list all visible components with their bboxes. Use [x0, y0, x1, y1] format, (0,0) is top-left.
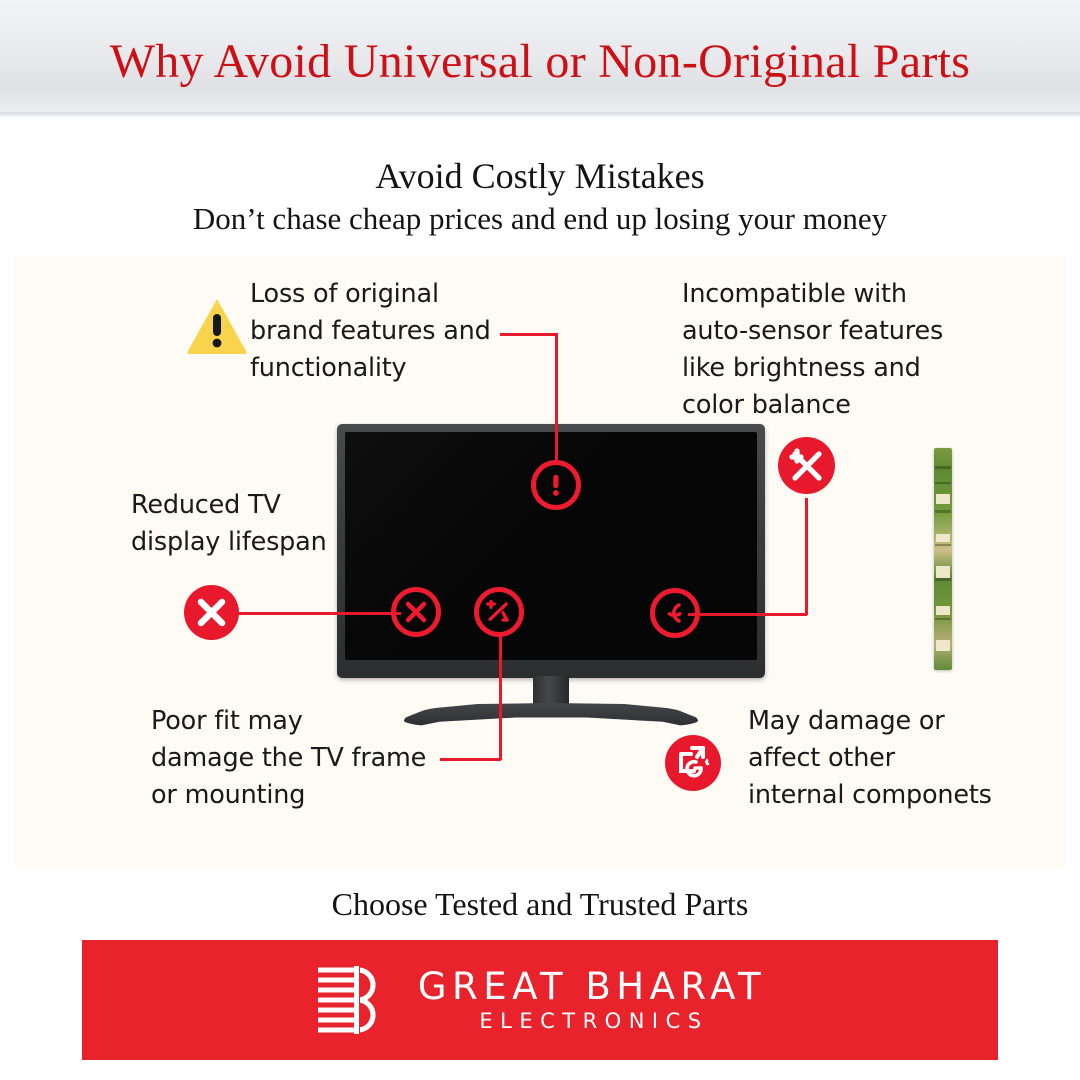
- footer-brand-bar: GREAT BHARAT ELECTRONICS: [82, 940, 998, 1060]
- callout-line: Incompatible with: [682, 276, 982, 313]
- callout-line: functionality: [250, 350, 520, 387]
- connector-lifespan-horizontal: [236, 612, 401, 615]
- brand-name: GREAT BHARAT: [418, 966, 766, 1008]
- callout-line: Reduced TV: [131, 487, 361, 524]
- header-banner: Why Avoid Universal or Non-Original Part…: [0, 0, 1080, 118]
- connector-poorfit-vertical: [499, 636, 502, 760]
- subtitle-primary: Avoid Costly Mistakes: [0, 155, 1080, 197]
- red-cross-circle-icon: [184, 585, 239, 640]
- callout-line: Poor fit may: [151, 703, 461, 740]
- callout-line: auto-sensor features: [682, 313, 982, 350]
- cross-ring-glyph: [396, 587, 436, 637]
- broken-sensor-glyph: [778, 437, 835, 494]
- broken-sensor-icon: [778, 437, 835, 494]
- led-driver-board: [934, 448, 952, 670]
- connector-loss-vertical: [555, 333, 558, 460]
- callout-line: affect other: [748, 740, 1018, 777]
- component-damage-icon: [665, 735, 721, 791]
- percent-decline-icon: [474, 587, 524, 637]
- cross-glyph: [184, 585, 239, 640]
- brand-logo-icon: [314, 962, 392, 1038]
- exclamation-circle-icon: [531, 460, 581, 510]
- callout-line: May damage or: [748, 703, 1018, 740]
- brand-wordmark: GREAT BHARAT ELECTRONICS: [418, 966, 766, 1034]
- callout-line: Loss of original: [250, 276, 520, 313]
- callout-line: brand features and: [250, 313, 520, 350]
- callout-line: like brightness and: [682, 350, 982, 387]
- contrast-glyph: [655, 588, 695, 638]
- bottom-tagline: Choose Tested and Trusted Parts: [0, 884, 1080, 924]
- callout-line: or mounting: [151, 777, 461, 814]
- cross-circle-icon: [391, 587, 441, 637]
- warning-triangle-icon: [186, 296, 248, 356]
- connector-sensor-vertical: [805, 498, 808, 615]
- page-title: Why Avoid Universal or Non-Original Part…: [0, 36, 1080, 88]
- callout-poor-fit: Poor fit may damage the TV frame or moun…: [151, 703, 461, 814]
- contrast-circle-icon: [650, 588, 700, 638]
- callout-line: internal componets: [748, 777, 1018, 814]
- callout-line: damage the TV frame: [151, 740, 461, 777]
- callout-internal-damage: May damage or affect other internal comp…: [748, 703, 1018, 814]
- subtitle-secondary: Don’t chase cheap prices and end up losi…: [0, 200, 1080, 238]
- component-damage-glyph: [665, 735, 721, 791]
- callout-line: display lifespan: [131, 524, 361, 561]
- callout-incompatible-sensors: Incompatible with auto-sensor features l…: [682, 276, 982, 424]
- callout-reduced-lifespan: Reduced TV display lifespan: [131, 487, 361, 561]
- exclamation-glyph: [536, 460, 576, 510]
- brand-subtitle: ELECTRONICS: [418, 1008, 766, 1034]
- connector-sensor-horizontal: [688, 613, 807, 616]
- percent-decline-glyph: [479, 587, 519, 637]
- callout-line: color balance: [682, 387, 982, 424]
- callout-loss-of-features: Loss of original brand features and func…: [250, 276, 520, 387]
